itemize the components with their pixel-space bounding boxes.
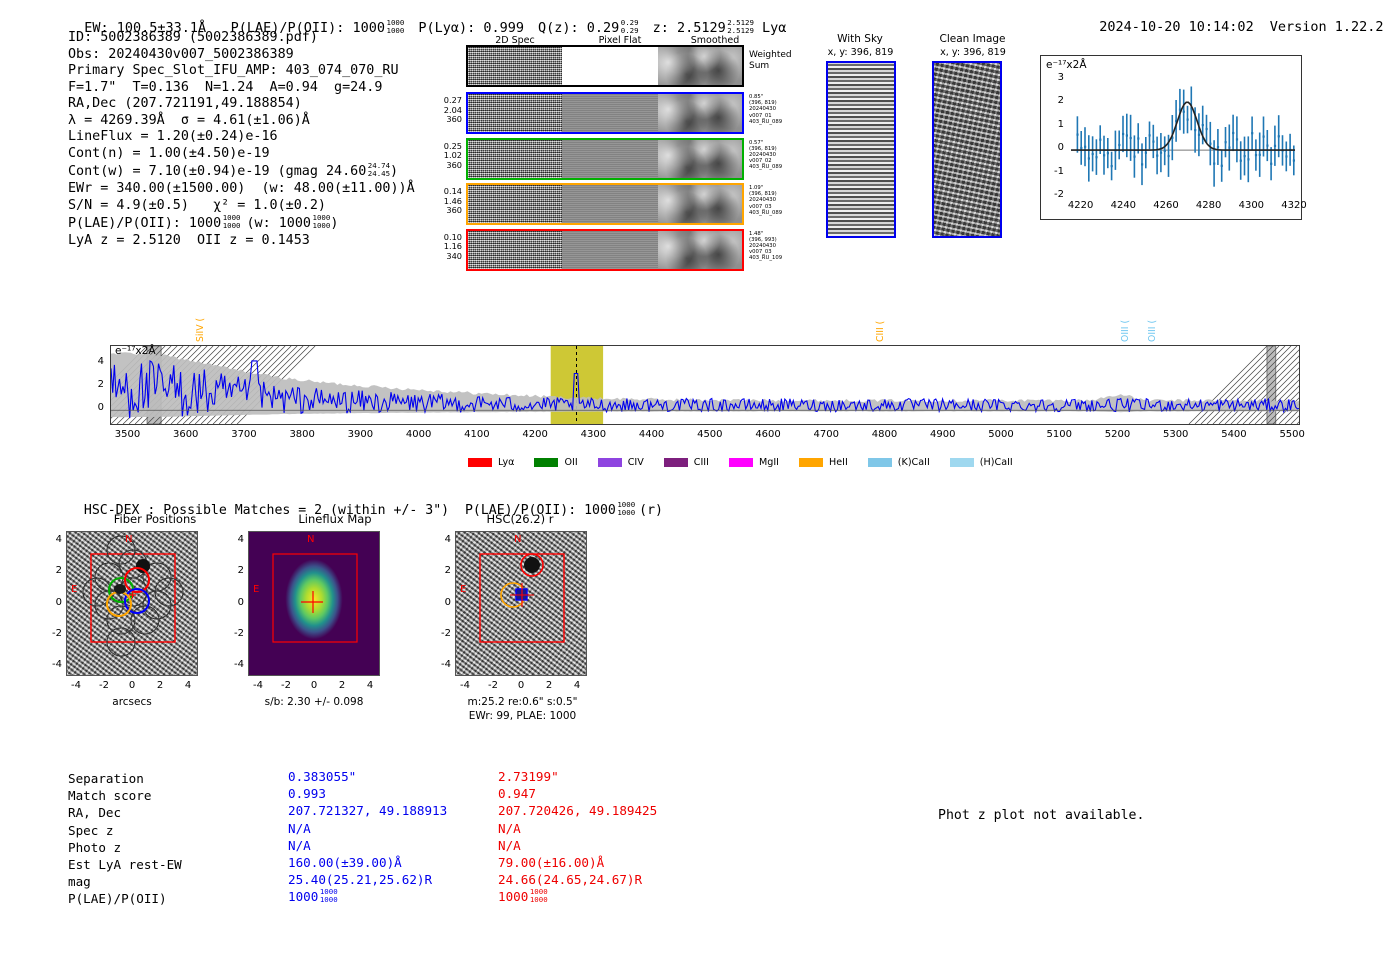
cutout-y-tick: -2: [222, 628, 244, 639]
montage-row: [466, 229, 744, 271]
gmag-fraction: 24.7424.45: [368, 162, 390, 177]
match-row-value-blue: 0.993: [288, 785, 326, 802]
cutout-x-tick: 2: [328, 680, 356, 691]
timestamp-text: 2024-10-20 10:14:02: [1099, 19, 1253, 35]
lineplot-canvas: [1041, 56, 1301, 219]
cutout-y-tick: 2: [40, 565, 62, 576]
legend-swatch: [664, 458, 688, 467]
legend-label: CIII: [694, 457, 709, 468]
match-row-value-red: 79.00(±16.00)Å: [498, 854, 604, 871]
spectrum-x-tick: 4700: [804, 429, 848, 440]
cutout-y-tick: 2: [429, 565, 451, 576]
row-2dspec: [468, 140, 562, 178]
full-spectrum-plot: e⁻¹⁷x2Å: [110, 345, 1300, 425]
legend-item: MgII: [729, 457, 779, 468]
spectrum-unit-label: e⁻¹⁷x2Å: [115, 345, 156, 357]
lineplot-y-tick: 3: [1044, 72, 1064, 83]
weighted-sum-label: Weighted Sum: [749, 50, 792, 71]
row-2dspec: [468, 185, 562, 223]
match-plae-blue: 100010001000: [288, 888, 338, 905]
cutout-y-tick: -4: [40, 659, 62, 670]
row-pixelflat: [562, 94, 658, 132]
match-row-label: mag: [68, 873, 91, 890]
lineflux-overlay: [249, 532, 379, 675]
lineplot-x-tick: 4260: [1146, 200, 1186, 211]
cutout-x-tick: -2: [479, 680, 507, 691]
spectrum-x-tick: 4000: [397, 429, 441, 440]
match-row-value-blue: 160.00(±39.00)Å: [288, 854, 402, 871]
compass-east-3: E: [460, 584, 466, 595]
row-pixelflat: [562, 140, 658, 178]
cutout-y-tick: 2: [222, 565, 244, 576]
header-z-fraction: 2.51292.5129: [727, 19, 754, 34]
plae-fraction-2: 10001000: [313, 214, 331, 229]
spectrum-y-tick: 2: [84, 379, 104, 390]
spectrum-x-tick: 4500: [688, 429, 732, 440]
lineplot-y-tick: 1: [1044, 119, 1064, 130]
compass-north-1: N: [125, 534, 132, 545]
match-plae-label: P(LAE)/P(OII): [68, 890, 167, 907]
cutout-x-tick: 4: [356, 680, 384, 691]
spectrum-x-tick: 4300: [571, 429, 615, 440]
match-row-label: Separation: [68, 770, 144, 787]
cutout-y-tick: 0: [429, 597, 451, 608]
plae-fraction-1: 10001000: [223, 214, 241, 229]
fiber-overlay: [67, 532, 197, 675]
spectrum-x-tick: 3800: [280, 429, 324, 440]
montage-row-stats: 0.272.04360: [428, 96, 462, 125]
legend-label: MgII: [759, 457, 779, 468]
weighted-sum-strip: [466, 45, 744, 87]
legend-swatch: [534, 458, 558, 467]
spectrum-x-tick: 4200: [513, 429, 557, 440]
compass-north-3: N: [514, 534, 521, 545]
hsc-r-xlabel: m:25.2 re:0.6" s:0.5": [440, 696, 605, 708]
lineplot-y-tick: 2: [1044, 95, 1064, 106]
cutout-x-tick: -4: [62, 680, 90, 691]
spectrum-y-tick: 4: [84, 356, 104, 367]
cutout-y-tick: 4: [40, 534, 62, 545]
header-timestamp-version: 2024-10-20 10:14:02Version 1.22.2: [1083, 3, 1384, 35]
redshift-line: LyA z = 2.5120 OII z = 0.1453: [68, 233, 415, 250]
montage-row-stats: 0.141.46360: [428, 187, 462, 216]
match-row-label: Match score: [68, 787, 151, 804]
match-plae-red: 100010001000: [498, 888, 548, 905]
emission-line-fit-plot: e⁻¹⁷x2Å: [1040, 55, 1302, 220]
plae-poii-line: P(LAE)/P(OII): 100010001000(w: 100010001…: [68, 214, 415, 233]
header-qz: Q(z): 0.29: [538, 20, 619, 36]
hsc-overlay: [456, 532, 586, 675]
cutout-x-tick: -2: [90, 680, 118, 691]
montage-row: [466, 92, 744, 134]
spectrum-line-labels: SIII (CII (SiIV (OVI (HeII (SiIV (OII (C…: [0, 272, 1400, 345]
header-z: z: 2.5129: [653, 20, 726, 36]
legend-item: CIII: [664, 457, 709, 468]
legend-label: Lyα: [498, 457, 514, 468]
fiber-positions-image: N E: [66, 531, 198, 676]
compass-east-2: E: [253, 584, 259, 595]
radec-line: RA,Dec (207.721191,49.188854): [68, 96, 415, 113]
montage-row-amp-info: 1.48"(396, 993)20240430v007_03403_RU_109: [749, 231, 809, 262]
compass-east-1: E: [71, 584, 77, 595]
legend-swatch: [598, 458, 622, 467]
row-smoothed: [658, 94, 742, 132]
cutout-x-tick: 0: [507, 680, 535, 691]
match-row-label: Photo z: [68, 839, 121, 856]
spectrum-x-tick: 5000: [979, 429, 1023, 440]
row-2dspec: [468, 231, 562, 269]
montage-row-stats: 0.251.02360: [428, 142, 462, 171]
cutout-x-tick: -4: [451, 680, 479, 691]
weighted-sum-2dspec: [468, 47, 562, 85]
cutout-x-tick: 2: [146, 680, 174, 691]
lineflux-map-image: N E: [248, 531, 380, 676]
legend-label: (H)CaII: [980, 457, 1013, 468]
legend-item: CIV: [598, 457, 644, 468]
montage-row-stats: 0.101.16340: [428, 233, 462, 262]
cutout-y-tick: 4: [429, 534, 451, 545]
cleanimage-title: Clean Image: [925, 33, 1020, 45]
spectrum-canvas: [111, 346, 1299, 424]
match-row-value-blue: N/A: [288, 820, 311, 837]
lineplot-x-tick: 4220: [1061, 200, 1101, 211]
header-qz-fraction: 0.290.29: [621, 19, 639, 34]
cutout-x-tick: -4: [244, 680, 272, 691]
match-plae-fraction: 10001000: [320, 888, 338, 903]
spectrum-x-tick: 3500: [105, 429, 149, 440]
spectrum-x-tick: 5400: [1212, 429, 1256, 440]
lineplot-y-tick: -1: [1044, 166, 1064, 177]
spectrum-legend: LyαOIICIVCIIIMgIIHeII(K)CaII(H)CaII: [468, 452, 1033, 471]
spectrum-y-tick: 0: [84, 402, 104, 413]
legend-item: OII: [534, 457, 577, 468]
legend-swatch: [868, 458, 892, 467]
legend-item: (H)CaII: [950, 457, 1013, 468]
spectrum-x-tick: 4400: [630, 429, 674, 440]
match-row-value-red: 207.720426, 49.189425: [498, 802, 657, 819]
header-plya: P(Lyα): 0.999: [418, 20, 524, 36]
legend-label: HeII: [829, 457, 848, 468]
cutout-y-tick: -4: [429, 659, 451, 670]
lineplot-x-tick: 4240: [1103, 200, 1143, 211]
header-z-species: Lyα: [762, 20, 786, 36]
row-pixelflat: [562, 185, 658, 223]
lineflux-map-xlabel: s/b: 2.30 +/- 0.098: [238, 696, 390, 708]
match-row-value-blue: 0.383055": [288, 768, 356, 785]
montage-row-amp-info: 0.85"(396, 819)20240430v007_01403_RU_089: [749, 94, 809, 125]
spectrum-x-tick: 3700: [222, 429, 266, 440]
legend-swatch: [729, 458, 753, 467]
cutout-y-tick: 0: [40, 597, 62, 608]
lineflux-line: LineFlux = 1.20(±0.24)e-16: [68, 129, 415, 146]
cutout-x-tick: 0: [118, 680, 146, 691]
row-smoothed: [658, 231, 742, 269]
spectrum-x-tick: 5500: [1270, 429, 1314, 440]
cutout-y-tick: -2: [40, 628, 62, 639]
montage-row: [466, 183, 744, 225]
spectrum-x-tick: 4900: [921, 429, 965, 440]
continuum-narrow-line: Cont(n) = 1.00(±4.50)e-19: [68, 146, 415, 163]
legend-item: Lyα: [468, 457, 514, 468]
legend-swatch: [468, 458, 492, 467]
match-row-value-blue: 207.721327, 49.188913: [288, 802, 447, 819]
cutout-y-tick: -2: [429, 628, 451, 639]
match-row-value-blue: 25.40(25.21,25.62)R: [288, 871, 432, 888]
row-pixelflat: [562, 231, 658, 269]
photz-message: Phot z plot not available.: [938, 808, 1144, 823]
montage-row: [466, 138, 744, 180]
match-row-value-red: 0.947: [498, 785, 536, 802]
hsc-r-title: HSC(26.2) r: [425, 512, 615, 526]
lineplot-x-tick: 4320: [1274, 200, 1314, 211]
wavelength-sigma-line: λ = 4269.39Å σ = 4.61(±1.06)Å: [68, 113, 415, 130]
cleanimage-coords: x, y: 396, 819: [918, 47, 1028, 58]
legend-item: (K)CaII: [868, 457, 930, 468]
cutout-x-tick: 4: [174, 680, 202, 691]
lineplot-y-tick: 0: [1044, 142, 1064, 153]
cutout-y-tick: -4: [222, 659, 244, 670]
withsky-image: [826, 61, 896, 238]
cutout-x-tick: 4: [563, 680, 591, 691]
cutout-x-tick: 0: [300, 680, 328, 691]
lineplot-y-tick: -2: [1044, 189, 1064, 200]
spectrum-x-tick: 4800: [863, 429, 907, 440]
match-row-label: Est LyA rest-EW: [68, 856, 182, 873]
primary-spec-slot-line: Primary Spec_Slot_IFU_AMP: 403_074_070_R…: [68, 63, 415, 80]
match-row-label: RA, Dec: [68, 804, 121, 821]
withsky-title: With Sky: [820, 33, 900, 45]
montage-row-amp-info: 0.57"(396, 819)20240430v007_02403_RU_089: [749, 140, 809, 171]
cutout-y-tick: 4: [222, 534, 244, 545]
seeing-throughput-line: F=1.7" T=0.136 N=1.24 A=0.94 g=24.9: [68, 80, 415, 97]
row-2dspec: [468, 94, 562, 132]
lineplot-x-tick: 4300: [1231, 200, 1271, 211]
match-row-value-red: 24.66(24.65,24.67)R: [498, 871, 642, 888]
spectrum-x-tick: 3900: [338, 429, 382, 440]
ewr-line: EWr = 340.00(±1500.00) (w: 48.00(±11.00)…: [68, 181, 415, 198]
lineplot-x-tick: 4280: [1189, 200, 1229, 211]
match-row-value-blue: N/A: [288, 837, 311, 854]
compass-north-2: N: [307, 534, 314, 545]
match-row-value-red: 2.73199": [498, 768, 559, 785]
spectrum-x-tick: 5100: [1037, 429, 1081, 440]
cutout-y-tick: 0: [222, 597, 244, 608]
legend-label: (K)CaII: [898, 457, 930, 468]
match-row-label: Spec z: [68, 822, 114, 839]
lineflux-map-title: Lineflux Map: [240, 512, 430, 526]
weighted-sum-pixelflat: [562, 47, 658, 85]
match-row-value-red: N/A: [498, 820, 521, 837]
id-line: ID: 5002386389 (5002386389.pdf): [68, 30, 415, 47]
spectrum-x-tick: 5300: [1154, 429, 1198, 440]
montage-row-amp-info: 1.09"(396, 819)20240430v007_03403_RU_089: [749, 185, 809, 216]
spectrum-x-tick: 5200: [1095, 429, 1139, 440]
match-row-value-red: N/A: [498, 837, 521, 854]
obs-line: Obs: 20240430v007_5002386389: [68, 47, 415, 64]
hsc-r-image: N E: [455, 531, 587, 676]
match-plae-fraction: 10001000: [530, 888, 548, 903]
legend-swatch: [950, 458, 974, 467]
row-smoothed: [658, 140, 742, 178]
fiber-positions-xlabel: arcsecs: [66, 696, 198, 708]
id-info-block: ID: 5002386389 (5002386389.pdf) Obs: 202…: [68, 30, 415, 250]
spectrum-x-tick: 3600: [164, 429, 208, 440]
spectrum-x-tick: 4100: [455, 429, 499, 440]
legend-label: OII: [564, 457, 577, 468]
row-smoothed: [658, 185, 742, 223]
cutout-x-tick: -2: [272, 680, 300, 691]
fiber-positions-title: Fiber Positions: [60, 512, 250, 526]
continuum-wide-line: Cont(w) = 7.10(±0.94)e-19 (gmag 24.6024.…: [68, 162, 415, 181]
cutout-x-tick: 2: [535, 680, 563, 691]
legend-item: HeII: [799, 457, 848, 468]
weighted-sum-smoothed: [658, 47, 742, 85]
cleanimage-image: [932, 61, 1002, 238]
legend-swatch: [799, 458, 823, 467]
withsky-coords: x, y: 396, 819: [808, 47, 913, 58]
version-text: Version 1.22.2: [1270, 19, 1384, 35]
legend-label: CIV: [628, 457, 644, 468]
spectrum-x-tick: 4600: [746, 429, 790, 440]
hsc-r-xlabel2: EWr: 99, PLAE: 1000: [440, 710, 605, 722]
snr-chi2-line: S/N = 4.9(±0.5) χ² = 1.0(±0.2): [68, 198, 415, 215]
hscdex-plae-fraction: 10001000: [617, 501, 635, 516]
